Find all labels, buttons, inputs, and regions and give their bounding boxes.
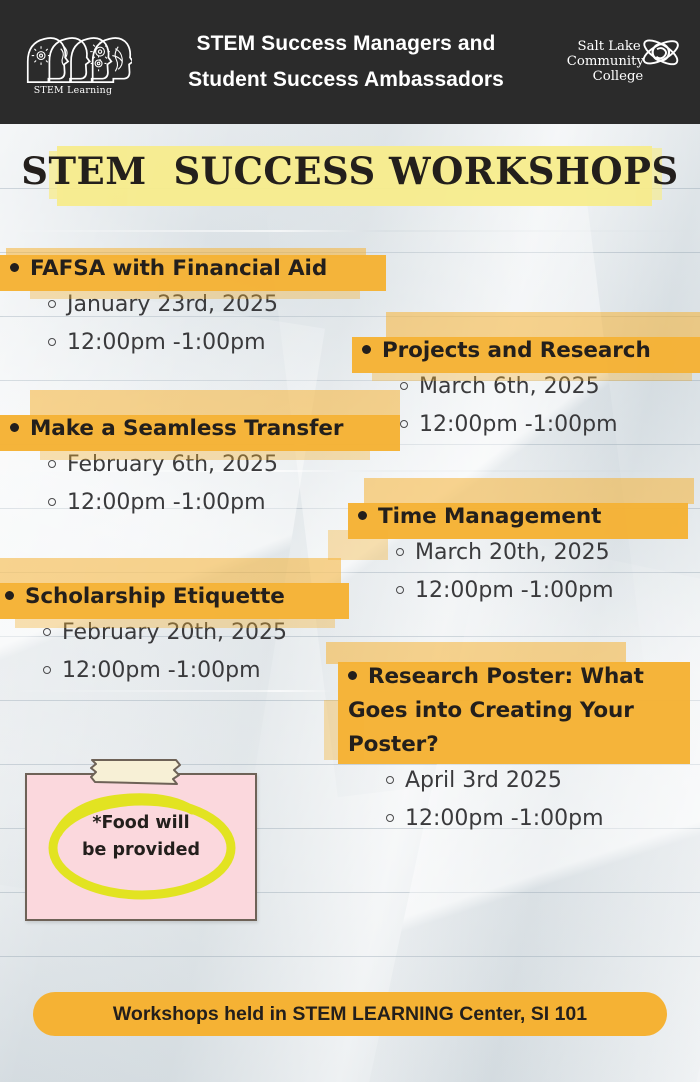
workshop-item: FAFSA with Financial Aid January 23rd, 2… bbox=[10, 252, 327, 362]
header-bar: STEM Learning STEM Success Managers and … bbox=[0, 0, 700, 124]
highlight-band bbox=[15, 618, 335, 628]
workshop-title-row: Time Management bbox=[358, 500, 601, 534]
workshop-time-row: 12:00pm -1:00pm bbox=[10, 484, 343, 522]
circle-bullet-icon bbox=[400, 382, 408, 390]
header-title-line-2: Student Success Ambassadors bbox=[136, 62, 556, 98]
workshop-time-row: 12:00pm -1:00pm bbox=[10, 324, 327, 362]
workshop-item: Research Poster: What Goes into Creating… bbox=[348, 660, 653, 838]
circle-bullet-icon bbox=[396, 548, 404, 556]
stem-logo-text: STEM Learning bbox=[34, 85, 112, 96]
bullet-dot-icon bbox=[348, 671, 357, 680]
header-title-line-1: STEM Success Managers and bbox=[136, 26, 556, 62]
workshop-heading: Research Poster: What Goes into Creating… bbox=[348, 660, 653, 762]
footer-text: Workshops held in STEM LEARNING Center, … bbox=[113, 1003, 587, 1026]
workshop-time: 12:00pm -1:00pm bbox=[419, 412, 618, 437]
stem-learning-logo: STEM Learning bbox=[14, 23, 132, 101]
note-line-1: *Food will bbox=[27, 810, 255, 837]
workshop-item: Projects and Research March 6th, 2025 12… bbox=[362, 334, 651, 444]
workshop-title: Make a Seamless Transfer bbox=[30, 416, 343, 441]
slcc-logo: Salt Lake Community College bbox=[560, 32, 686, 93]
workshop-heading: Scholarship Etiquette bbox=[5, 580, 285, 614]
page-title: STEM SUCCESS WORKSHOPS bbox=[0, 140, 700, 202]
circle-bullet-icon bbox=[48, 300, 56, 308]
workshop-time: 12:00pm -1:00pm bbox=[62, 658, 261, 683]
circle-bullet-icon bbox=[48, 460, 56, 468]
workshop-time-row: 12:00pm -1:00pm bbox=[5, 652, 287, 690]
workshop-heading: FAFSA with Financial Aid bbox=[10, 252, 327, 286]
note-line-2: be provided bbox=[27, 837, 255, 864]
bullet-dot-icon bbox=[358, 511, 367, 520]
workshop-time: 12:00pm -1:00pm bbox=[415, 578, 614, 603]
workshop-date-row: March 20th, 2025 bbox=[358, 534, 614, 572]
workshop-time: 12:00pm -1:00pm bbox=[67, 330, 266, 355]
circle-bullet-icon bbox=[396, 586, 404, 594]
workshop-title: Time Management bbox=[378, 504, 601, 529]
poster-title-block: STEM SUCCESS WORKSHOPS bbox=[0, 140, 700, 202]
workshop-time: 12:00pm -1:00pm bbox=[67, 490, 266, 515]
workshop-item: Scholarship Etiquette February 20th, 202… bbox=[5, 580, 287, 690]
workshop-time-row: 12:00pm -1:00pm bbox=[358, 572, 614, 610]
slcc-logo-line-2: Community bbox=[567, 53, 645, 68]
circle-bullet-icon bbox=[48, 338, 56, 346]
workshop-date-row: April 3rd 2025 bbox=[348, 762, 653, 800]
circle-bullet-icon bbox=[386, 814, 394, 822]
circle-bullet-icon bbox=[43, 628, 51, 636]
paper-rule-line bbox=[0, 956, 700, 957]
workshop-item: Make a Seamless Transfer February 6th, 2… bbox=[10, 412, 343, 522]
bullet-dot-icon bbox=[10, 423, 19, 432]
highlight-band bbox=[328, 530, 388, 560]
workshop-time-row: 12:00pm -1:00pm bbox=[348, 800, 653, 838]
workshop-heading: Make a Seamless Transfer bbox=[10, 412, 343, 446]
workshop-title-row: Scholarship Etiquette bbox=[5, 580, 285, 614]
bullet-dot-icon bbox=[362, 345, 371, 354]
bullet-dot-icon bbox=[10, 263, 19, 272]
highlight-band bbox=[372, 372, 692, 381]
workshop-title: Research Poster: What Goes into Creating… bbox=[348, 664, 644, 757]
workshop-title: Scholarship Etiquette bbox=[25, 584, 285, 609]
sticky-note: *Food will be provided bbox=[25, 773, 257, 921]
workshop-heading: Projects and Research bbox=[362, 334, 651, 368]
note-text: *Food will be provided bbox=[27, 810, 255, 864]
workshop-title: FAFSA with Financial Aid bbox=[30, 256, 327, 281]
circle-bullet-icon bbox=[48, 498, 56, 506]
slcc-logo-line-3: College bbox=[593, 69, 644, 84]
workshop-title: Projects and Research bbox=[382, 338, 651, 363]
header-title: STEM Success Managers and Student Succes… bbox=[132, 26, 560, 98]
highlight-band bbox=[40, 450, 370, 460]
workshop-heading: Time Management bbox=[358, 500, 601, 534]
highlight-band bbox=[30, 290, 360, 299]
circle-bullet-icon bbox=[386, 776, 394, 784]
bullet-dot-icon bbox=[5, 591, 14, 600]
slcc-swirl-icon bbox=[641, 35, 681, 68]
workshop-date: April 3rd 2025 bbox=[405, 768, 562, 793]
circle-bullet-icon bbox=[400, 420, 408, 428]
workshop-title-row: FAFSA with Financial Aid bbox=[10, 252, 327, 286]
paper-crease bbox=[0, 230, 700, 232]
circle-bullet-icon bbox=[43, 666, 51, 674]
workshop-title-row: Make a Seamless Transfer bbox=[10, 412, 343, 446]
workshop-title-row: Research Poster: What Goes into Creating… bbox=[348, 660, 653, 762]
workshop-time-row: 12:00pm -1:00pm bbox=[362, 406, 651, 444]
workshop-time: 12:00pm -1:00pm bbox=[405, 806, 604, 831]
workshop-title-row: Projects and Research bbox=[362, 334, 651, 368]
poster-canvas: STEM Learning STEM Success Managers and … bbox=[0, 0, 700, 1082]
slcc-logo-line-1: Salt Lake bbox=[578, 38, 641, 53]
washi-tape-icon bbox=[88, 755, 184, 789]
workshop-item: Time Management March 20th, 2025 12:00pm… bbox=[358, 500, 614, 610]
footer-banner: Workshops held in STEM LEARNING Center, … bbox=[33, 992, 667, 1036]
workshop-date: March 20th, 2025 bbox=[415, 540, 610, 565]
